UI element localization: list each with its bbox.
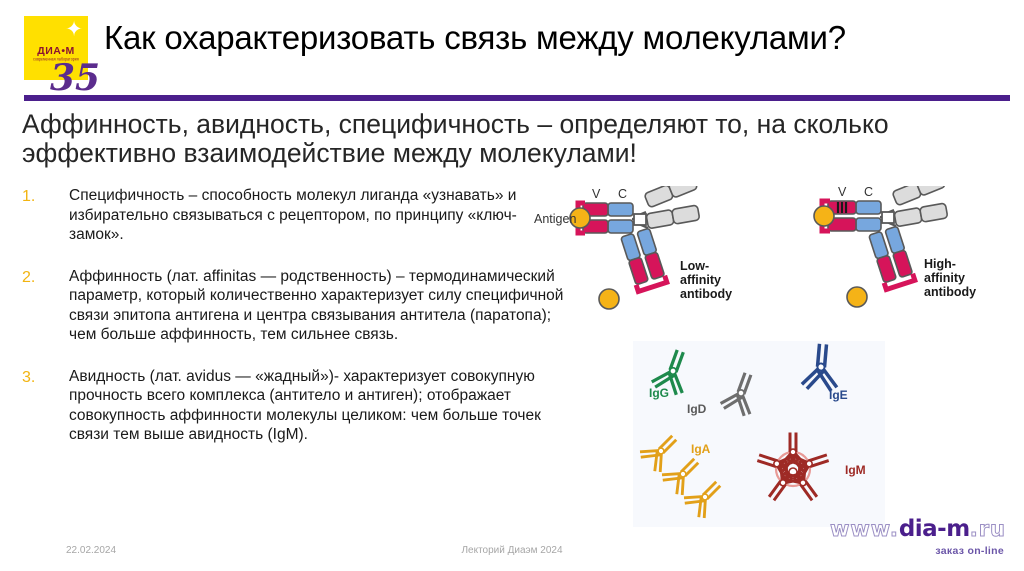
igd-label: IgD bbox=[687, 402, 707, 416]
slide-header: ✦ ДИА•М современная лаборатория 35 Как о… bbox=[0, 0, 1024, 96]
igm-label: IgM bbox=[845, 463, 866, 477]
high-affinity-label-line3: antibody bbox=[924, 285, 976, 299]
list-item-text: Авидность (лат. avidus — «жадный»)- хара… bbox=[69, 367, 567, 445]
logo-brand-text: ДИА•М bbox=[24, 45, 88, 57]
url-domain-part: dia-m bbox=[899, 516, 970, 542]
slide-canvas: ✦ ДИА•М современная лаборатория 35 Как о… bbox=[0, 0, 1024, 571]
star-icon: ✦ bbox=[64, 19, 84, 39]
list-item-text: Аффинность (лат. affinitas — родственнос… bbox=[69, 267, 567, 345]
list-item-text: Специфичность – способность молекул лига… bbox=[69, 186, 567, 245]
order-online-tagline: заказ on-line bbox=[935, 545, 1004, 557]
ige-label: IgE bbox=[829, 388, 848, 402]
url-tld-part: ru bbox=[979, 517, 1006, 541]
high-affinity-antibody-glyph: V C High- affinity antibody bbox=[814, 186, 976, 307]
igm-glyph bbox=[754, 432, 833, 507]
affinity-antibody-figure: Antigen V C Low- affinity antibody bbox=[528, 186, 1024, 318]
c-domain-label-right: C bbox=[864, 186, 873, 199]
url-www-part: www. bbox=[830, 517, 899, 541]
list-item: 1. Специфичность – способность молекул л… bbox=[22, 186, 567, 245]
igg-label: IgG bbox=[649, 386, 669, 400]
list-item: 3. Авидность (лат. avidus — «жадный»)- х… bbox=[22, 367, 567, 445]
affinity-antibody-svg: Antigen V C Low- affinity antibody bbox=[528, 186, 1024, 318]
high-affinity-label-line1: High- bbox=[924, 257, 956, 271]
logo-anniversary-number: 35 bbox=[50, 60, 100, 96]
immunoglobulin-classes-figure: IgG IgD IgE IgA bbox=[633, 341, 885, 527]
c-domain-label-left: C bbox=[618, 187, 627, 201]
slide-subtitle: Аффинность, авидность, специфичность – о… bbox=[22, 110, 982, 168]
list-item-number: 3. bbox=[22, 367, 69, 388]
iga-label: IgA bbox=[691, 442, 711, 456]
ige-glyph bbox=[802, 343, 841, 392]
definition-list: 1. Специфичность – способность молекул л… bbox=[22, 186, 567, 467]
v-domain-label-left: V bbox=[592, 187, 601, 201]
website-url-logo[interactable]: www.dia-m.ru bbox=[830, 518, 1006, 541]
low-affinity-label-line2: affinity bbox=[680, 273, 721, 287]
immunoglobulin-classes-svg: IgG IgD IgE IgA bbox=[633, 341, 885, 527]
iga-glyph bbox=[638, 428, 729, 521]
low-affinity-label-line1: Low- bbox=[680, 259, 709, 273]
list-item-number: 2. bbox=[22, 267, 69, 288]
high-affinity-label-line2: affinity bbox=[924, 271, 965, 285]
company-logo: ✦ ДИА•М современная лаборатория 35 bbox=[24, 16, 96, 92]
list-item-number: 1. bbox=[22, 186, 69, 207]
v-domain-label-right: V bbox=[838, 186, 847, 199]
antigen-label: Antigen bbox=[534, 212, 576, 226]
url-dot-part: . bbox=[970, 517, 979, 541]
list-item: 2. Аффинность (лат. affinitas — родствен… bbox=[22, 267, 567, 345]
igd-glyph bbox=[719, 368, 762, 417]
footer-event-name: Лекторий Диаэм 2024 bbox=[0, 545, 1024, 556]
low-affinity-label-line3: antibody bbox=[680, 287, 732, 301]
header-divider bbox=[24, 95, 1010, 101]
page-title: Как охарактеризовать связь между молекул… bbox=[104, 18, 1009, 58]
